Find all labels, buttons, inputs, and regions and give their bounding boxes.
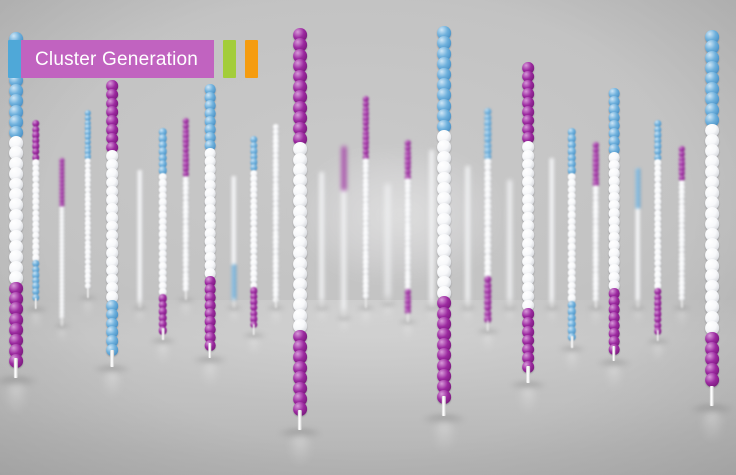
strand-floor-reflection	[676, 310, 687, 326]
dna-strand	[363, 96, 369, 300]
strand-anchor-stem	[87, 288, 89, 298]
strand-anchor-stem	[442, 396, 446, 416]
strand-floor-reflection	[57, 328, 67, 341]
dna-strand	[466, 166, 471, 300]
strand-anchor-stem	[321, 298, 323, 308]
strand-anchor-stem	[551, 298, 553, 308]
strand-anchor-stem	[185, 290, 187, 300]
dna-strand	[273, 124, 279, 300]
dna-strand	[593, 142, 599, 300]
strand-anchor-stem	[431, 298, 433, 308]
strand-anchor-stem	[571, 336, 574, 348]
strand-anchor-stem	[467, 298, 469, 308]
strand-anchor-stem	[61, 316, 63, 326]
strand-floor-reflection	[180, 302, 191, 318]
strand-floor-reflection	[383, 306, 393, 319]
strand-anchor-stem	[365, 298, 367, 308]
dna-strand	[85, 110, 91, 290]
strand-ground-shadow	[0, 376, 38, 388]
dna-strand	[60, 158, 65, 318]
dna-strand	[342, 146, 347, 310]
strand-anchor-stem	[208, 343, 211, 358]
strand-floor-reflection	[29, 311, 42, 329]
title-overlay: Cluster Generation	[8, 40, 258, 78]
strand-anchor-stem	[637, 298, 639, 308]
dna-strand	[568, 128, 576, 338]
strand-floor-reflection	[135, 310, 145, 323]
strand-floor-reflection	[402, 324, 413, 340]
dna-strand	[706, 30, 719, 388]
strand-floor-reflection	[270, 310, 281, 326]
strand-floor-reflection	[633, 310, 643, 323]
strand-floor-reflection	[360, 310, 371, 326]
dna-strand	[508, 180, 513, 300]
accent-bar-blue	[8, 40, 21, 78]
dna-strand	[320, 172, 325, 300]
strand-floor-reflection	[590, 310, 601, 326]
dna-strand	[33, 120, 40, 300]
dna-strand	[655, 120, 662, 332]
strand-anchor-stem	[387, 294, 389, 304]
dna-strand	[232, 176, 237, 300]
strand-anchor-stem	[298, 410, 302, 430]
strand-anchor-stem	[710, 386, 714, 406]
strand-anchor-stem	[14, 358, 18, 378]
strand-anchor-stem	[509, 298, 511, 308]
dna-strand	[636, 168, 641, 300]
strand-anchor-stem	[110, 350, 114, 367]
strand-floor-reflection	[463, 310, 473, 323]
dna-strand	[294, 28, 307, 412]
scene-canvas: Cluster Generation	[0, 0, 736, 475]
dna-strand	[251, 136, 258, 326]
dna-strand	[159, 128, 167, 330]
strand-floor-reflection	[651, 343, 664, 361]
dna-strand	[386, 184, 391, 296]
strand-floor-reflection	[564, 350, 579, 371]
strand-anchor-stem	[407, 312, 409, 322]
strand-floor-reflection	[155, 342, 170, 363]
dna-strand	[550, 158, 555, 300]
strand-floor-reflection	[505, 310, 515, 323]
dna-strand	[485, 108, 492, 322]
strand-anchor-stem	[612, 346, 615, 361]
dna-strand	[183, 118, 189, 292]
dna-strand	[405, 140, 411, 314]
strand-anchor-stem	[233, 298, 235, 308]
strand-floor-reflection	[481, 333, 494, 351]
dna-strand	[430, 150, 435, 300]
dna-strand	[10, 32, 23, 360]
dna-strand	[523, 62, 534, 368]
strand-floor-reflection	[547, 310, 557, 323]
dna-strand	[138, 170, 143, 300]
green-bar	[223, 40, 236, 78]
strand-anchor-stem	[681, 298, 683, 308]
strand-floor-reflection	[317, 310, 327, 323]
page-title: Cluster Generation	[35, 50, 198, 69]
strand-floor-reflection	[82, 300, 93, 316]
strand-anchor-stem	[595, 298, 597, 308]
strand-anchor-stem	[275, 298, 277, 308]
strand-anchor-stem	[162, 328, 165, 340]
strand-floor-reflection	[427, 310, 437, 323]
dna-strand	[107, 80, 118, 352]
dna-strand	[609, 88, 619, 348]
strand-floor-reflection	[229, 310, 239, 323]
dna-strand	[438, 26, 451, 398]
orange-bar	[245, 40, 258, 78]
title-box: Cluster Generation	[21, 40, 214, 78]
dna-strand	[205, 84, 215, 345]
strand-anchor-stem	[139, 298, 141, 308]
strand-anchor-stem	[343, 308, 345, 318]
strand-floor-reflection	[339, 320, 349, 333]
nucleotide-bead	[705, 373, 719, 387]
title-accent-bars	[214, 40, 258, 78]
strand-floor-reflection	[247, 337, 260, 355]
dna-strand	[679, 146, 685, 300]
strand-anchor-stem	[526, 366, 530, 383]
